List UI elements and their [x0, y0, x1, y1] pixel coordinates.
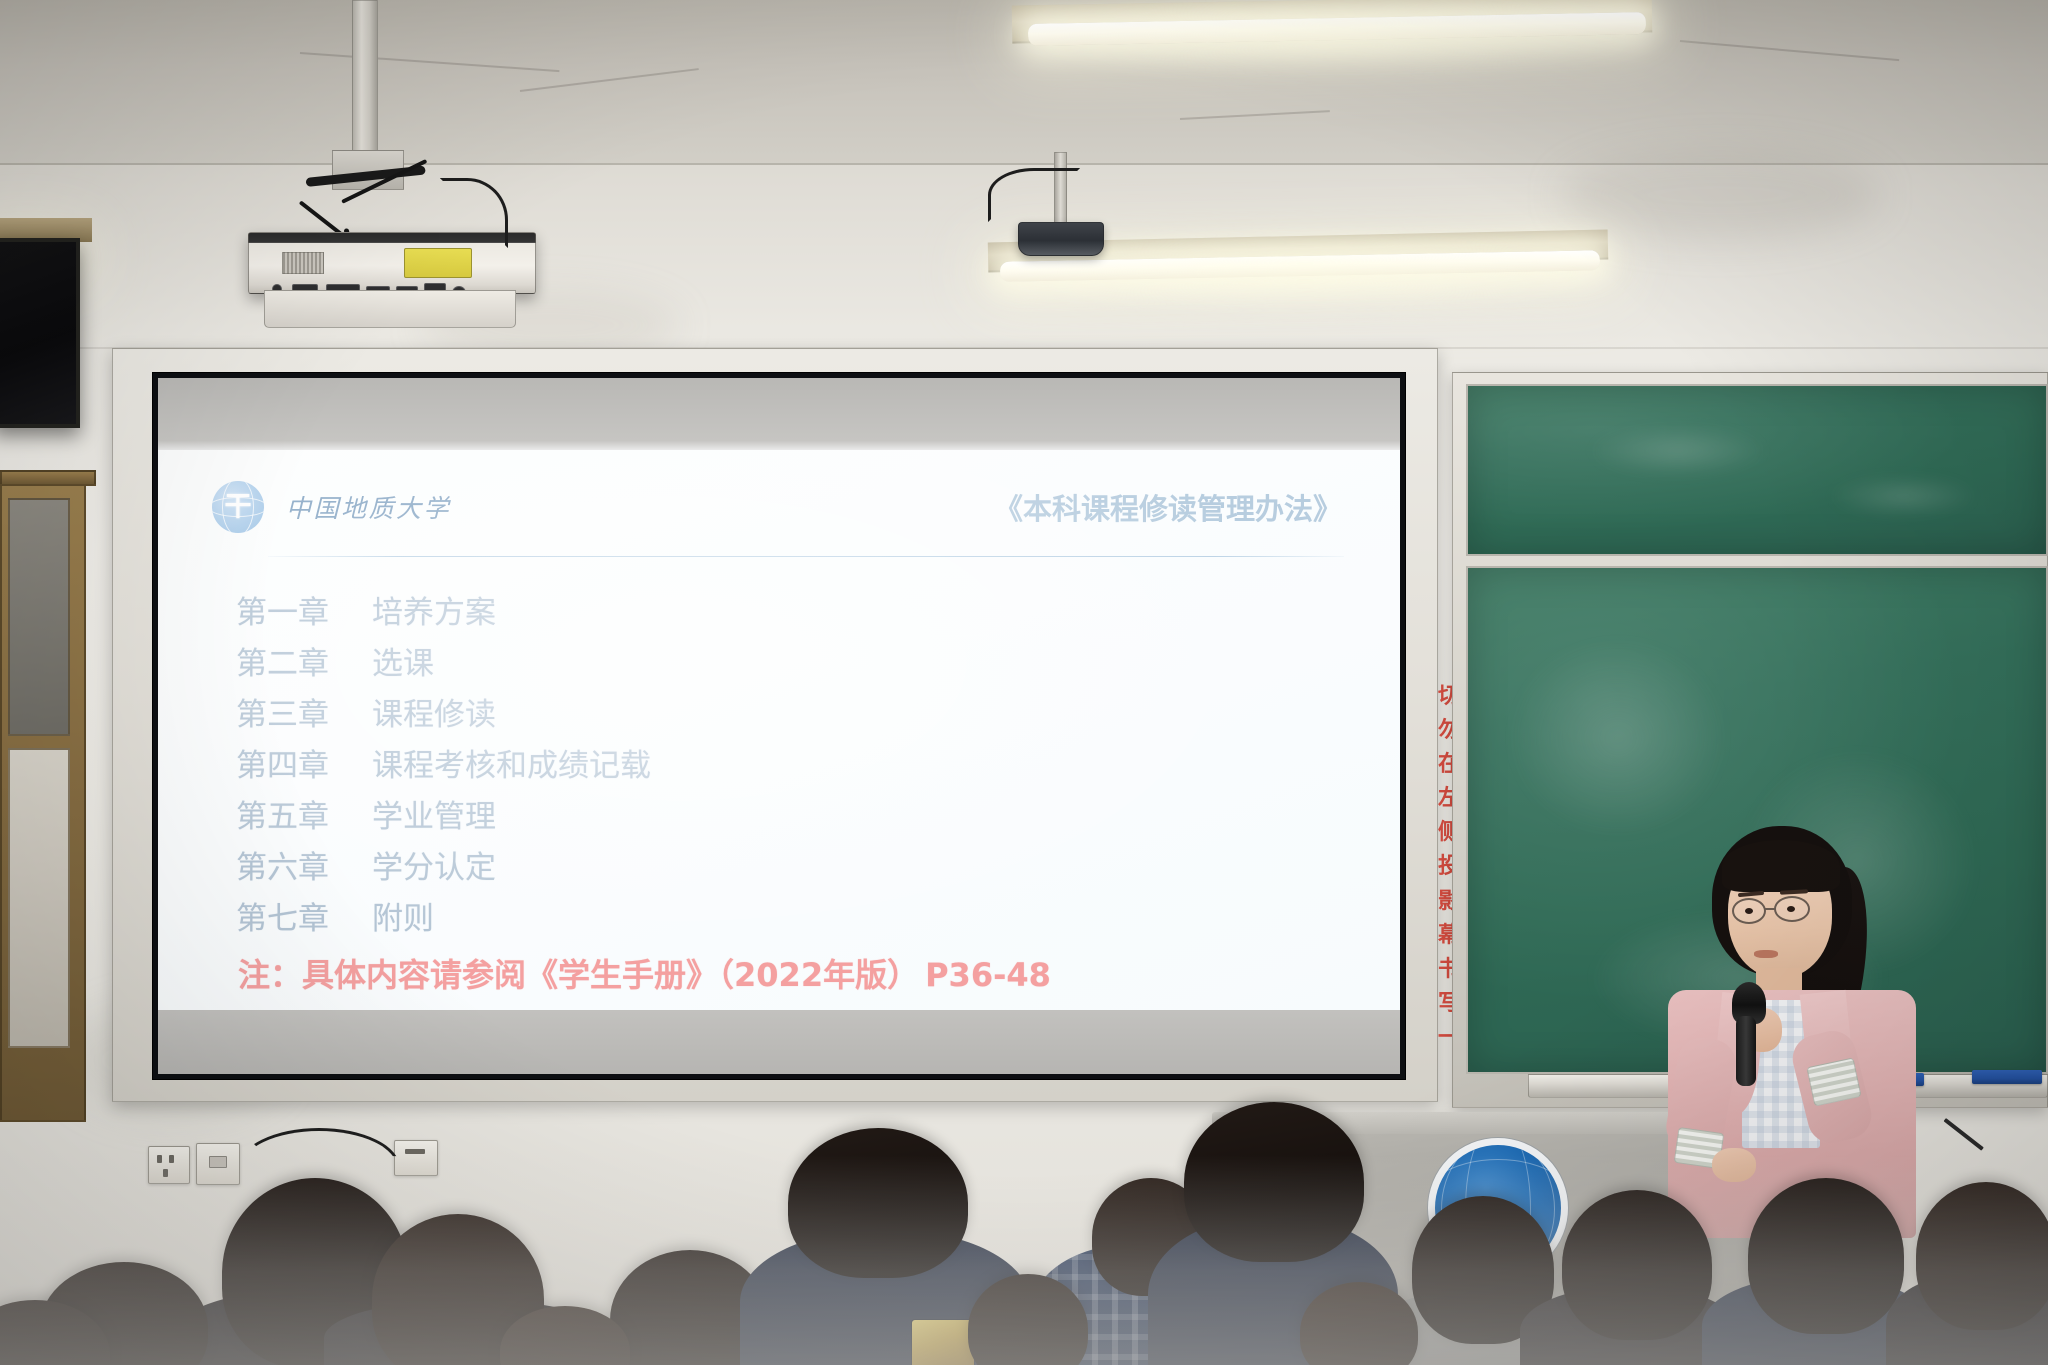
chapter-row: 第一章 培养方案	[236, 588, 1360, 639]
microphone-body[interactable]	[1736, 1016, 1756, 1086]
chapter-number: 第二章	[236, 639, 372, 690]
power-socket-2[interactable]	[196, 1143, 240, 1185]
chapter-number: 第三章	[236, 690, 372, 741]
chapter-number: 第四章	[236, 741, 372, 792]
wall-stain	[1560, 150, 1880, 240]
blackboard-panel-upper[interactable]	[1466, 384, 2048, 556]
power-socket-3[interactable]	[394, 1140, 438, 1176]
projection-screen-surface[interactable]: 干 中国地质大学 《本科课程修读管理办法》 第一章 培养方案 第二章 选课 第三…	[158, 378, 1400, 1074]
door-header	[0, 470, 96, 486]
chapter-title: 学业管理	[372, 792, 496, 843]
chapter-row: 第七章 附则	[236, 894, 1360, 945]
presentation-slide[interactable]: 干 中国地质大学 《本科课程修读管理办法》 第一章 培养方案 第二章 选课 第三…	[158, 450, 1400, 1010]
slide-note-pages: P36-48	[925, 956, 1051, 994]
presenter-hand-left	[1712, 1148, 1756, 1182]
slide-title: 《本科课程修读管理办法》	[994, 486, 1342, 528]
chapter-row: 第五章 学业管理	[236, 792, 1360, 843]
slide-header: 干 中国地质大学 《本科课程修读管理办法》	[212, 476, 1352, 538]
glasses-bridge	[1765, 908, 1776, 910]
ceiling-speaker	[1018, 222, 1104, 256]
wall-monitor	[0, 238, 80, 428]
speaker-cable	[988, 168, 1080, 222]
blackboard-eraser[interactable]	[1972, 1070, 2042, 1084]
chapter-row: 第三章 课程修读	[236, 690, 1360, 741]
audience-head	[1184, 1102, 1364, 1262]
projector-vent	[282, 252, 324, 274]
audience-head	[1748, 1178, 1904, 1334]
chapter-title: 学分认定	[372, 843, 496, 894]
chapter-row: 第六章 学分认定	[236, 843, 1360, 894]
chapter-row: 第二章 选课	[236, 639, 1360, 690]
chapter-number: 第七章	[236, 894, 372, 945]
projector-mount-pole	[352, 0, 378, 152]
audience-head	[1916, 1182, 2048, 1330]
chapter-number: 第一章	[236, 588, 372, 639]
chapter-title: 附则	[372, 894, 434, 945]
chapter-title: 选课	[372, 639, 434, 690]
presenter-mouth	[1754, 950, 1778, 958]
classroom-scene: 干 中国地质大学 《本科课程修读管理办法》 第一章 培养方案 第二章 选课 第三…	[0, 0, 2048, 1365]
university-name: 中国地质大学	[286, 489, 451, 525]
door-panel-lower	[8, 748, 70, 1048]
shirt-graphic-print	[912, 1320, 974, 1365]
projector-lens-plate	[264, 290, 516, 328]
chapter-number: 第六章	[236, 843, 372, 894]
logo-glyph: 干	[225, 494, 252, 521]
slide-note-prefix: 注：具体内容请参阅《学生手册》	[238, 956, 718, 994]
slide-note: 注：具体内容请参阅《学生手册》（2022年版）P36-48	[238, 950, 1051, 996]
presenter	[1650, 818, 1940, 1238]
slide-note-edition: （2022年版）	[718, 956, 919, 994]
presenter-eye	[1745, 908, 1753, 914]
chapter-list: 第一章 培养方案 第二章 选课 第三章 课程修读 第四章 课程考核和成绩记载 第…	[236, 588, 1360, 945]
audience-head	[1562, 1190, 1712, 1340]
university-globe-logo: 干	[212, 481, 264, 533]
door-window-upper	[8, 498, 70, 736]
presenter-bangs	[1722, 840, 1840, 892]
chapter-number: 第五章	[236, 792, 372, 843]
chapter-title: 培养方案	[372, 588, 496, 639]
projector-warning-label	[404, 248, 472, 278]
audience-head	[788, 1128, 968, 1278]
presenter-eye	[1787, 906, 1795, 912]
power-socket-1[interactable]	[148, 1146, 190, 1184]
chapter-title: 课程修读	[372, 690, 496, 741]
chapter-title: 课程考核和成绩记载	[372, 741, 651, 792]
chapter-row: 第四章 课程考核和成绩记载	[236, 741, 1360, 792]
slide-divider	[268, 556, 1344, 557]
